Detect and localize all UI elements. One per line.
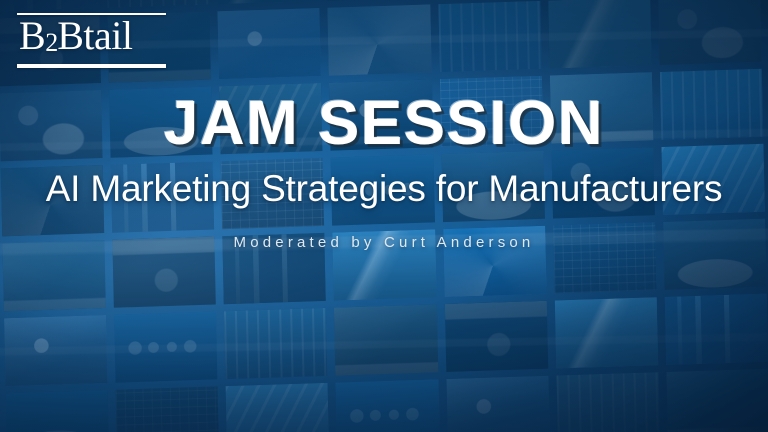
page-title: JAM SESSION	[0, 88, 768, 160]
logo-digit-2: 2	[45, 28, 57, 57]
content-layer: B2Btail JAM SESSION AI Marketing Strateg…	[0, 0, 768, 432]
logo-word-btail: Btail	[57, 13, 132, 58]
title-card: B2Btail JAM SESSION AI Marketing Strateg…	[0, 0, 768, 432]
brand-logo[interactable]: B2Btail	[17, 13, 166, 68]
logo-letter-b1: B	[19, 13, 45, 58]
logo-rule-bottom	[17, 64, 166, 68]
moderator-credit: Moderated by Curt Anderson	[0, 232, 768, 254]
page-subtitle: AI Marketing Strategies for Manufacturer…	[0, 166, 768, 212]
logo-wordmark: B2Btail	[17, 15, 166, 63]
